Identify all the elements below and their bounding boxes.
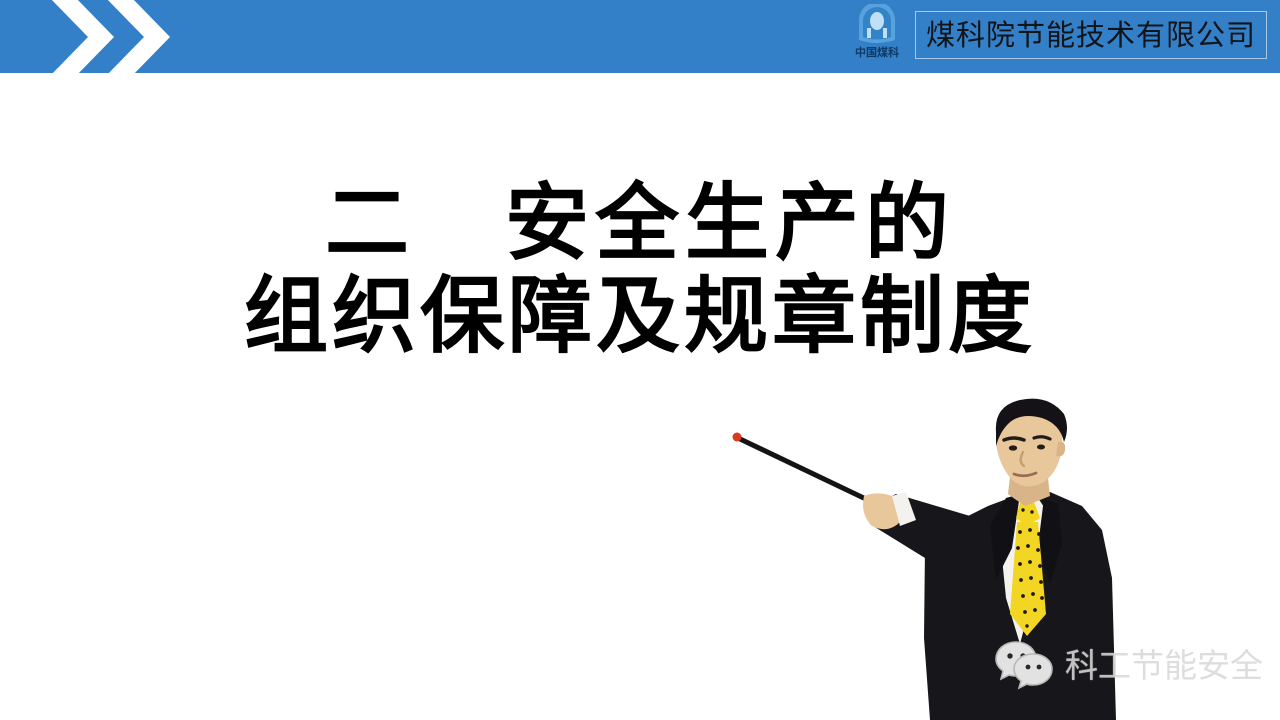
wechat-icon	[995, 640, 1057, 690]
wechat-watermark: 科工节能安全	[995, 640, 1263, 690]
china-coal-emblem-icon	[853, 4, 901, 46]
brand-logo-text: 中国煤科	[855, 47, 899, 58]
pointer-stick-icon	[733, 433, 871, 502]
title-line-1: 二 安全生产的	[0, 178, 1280, 267]
page-title: 二 安全生产的 组织保障及规章制度	[0, 178, 1280, 360]
company-name-box: 煤科院节能技术有限公司	[915, 11, 1267, 59]
brand-logo: 中国煤科	[841, 4, 913, 68]
header-bar: 中国煤科 煤科院节能技术有限公司	[0, 0, 1280, 73]
title-line-2: 组织保障及规章制度	[0, 271, 1280, 360]
wechat-label: 科工节能安全	[1065, 649, 1263, 682]
slide-canvas: 中国煤科 煤科院节能技术有限公司 二 安全生产的 组织保障及规章制度	[0, 0, 1280, 720]
company-name-text: 煤科院节能技术有限公司	[926, 21, 1256, 50]
